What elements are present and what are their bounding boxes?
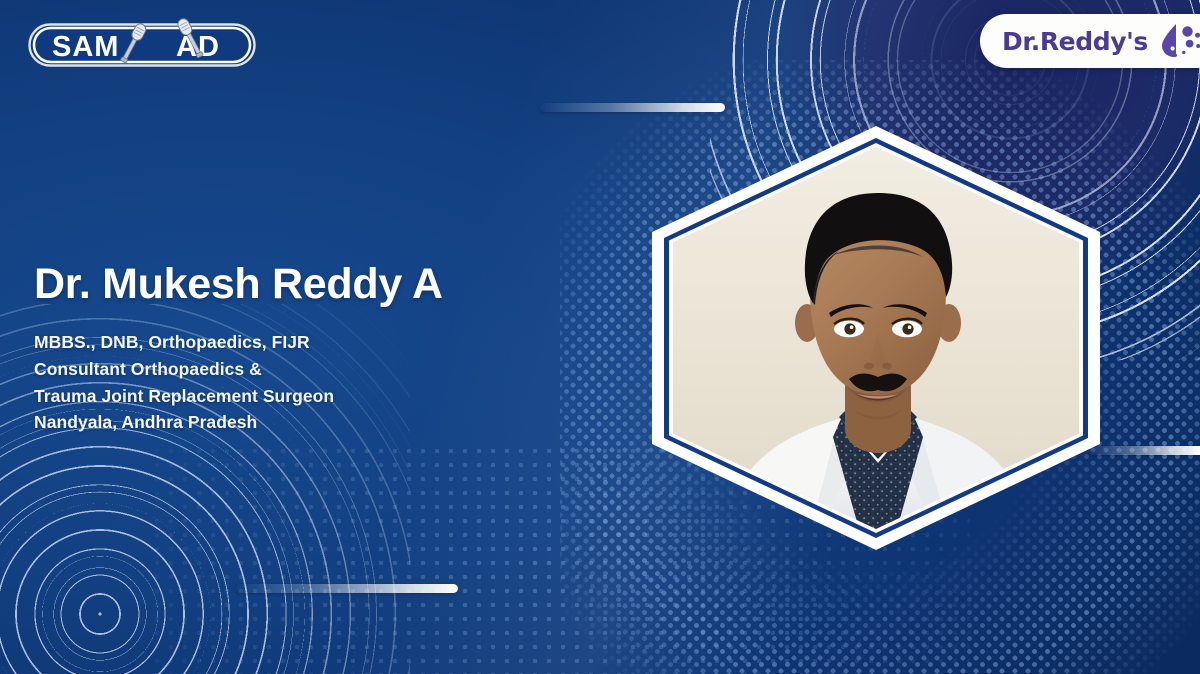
doctor-name: Dr. Mukesh Reddy A	[34, 262, 554, 307]
accent-bar-bottom	[236, 584, 458, 593]
doctor-portrait-frame	[652, 126, 1100, 550]
accent-bar-right	[1088, 446, 1200, 455]
accent-bar-top	[540, 103, 725, 112]
credential-line-1: MBBS., DNB, Orthopaedics, FIJR	[34, 329, 554, 356]
dr-reddys-logo[interactable]: Dr.Reddy's	[980, 14, 1200, 68]
samvad-logo[interactable]: SAM AD	[26, 18, 258, 72]
doctor-info-block: Dr. Mukesh Reddy A MBBS., DNB, Orthopaed…	[34, 262, 554, 436]
dr-reddys-leaf-bubbles-icon	[1158, 22, 1200, 60]
samvad-text-left: SAM	[52, 31, 119, 63]
credential-line-4: Nandyala, Andhra Pradesh	[34, 409, 554, 436]
credential-line-2: Consultant Orthopaedics &	[34, 356, 554, 383]
dr-reddys-wordmark: Dr.Reddy's	[1002, 29, 1148, 54]
credential-line-3: Trauma Joint Replacement Surgeon	[34, 383, 554, 410]
samvad-logo-svg: SAM AD	[26, 18, 258, 72]
speaker-intro-slide: SAM AD Dr.Reddy's	[0, 0, 1200, 674]
